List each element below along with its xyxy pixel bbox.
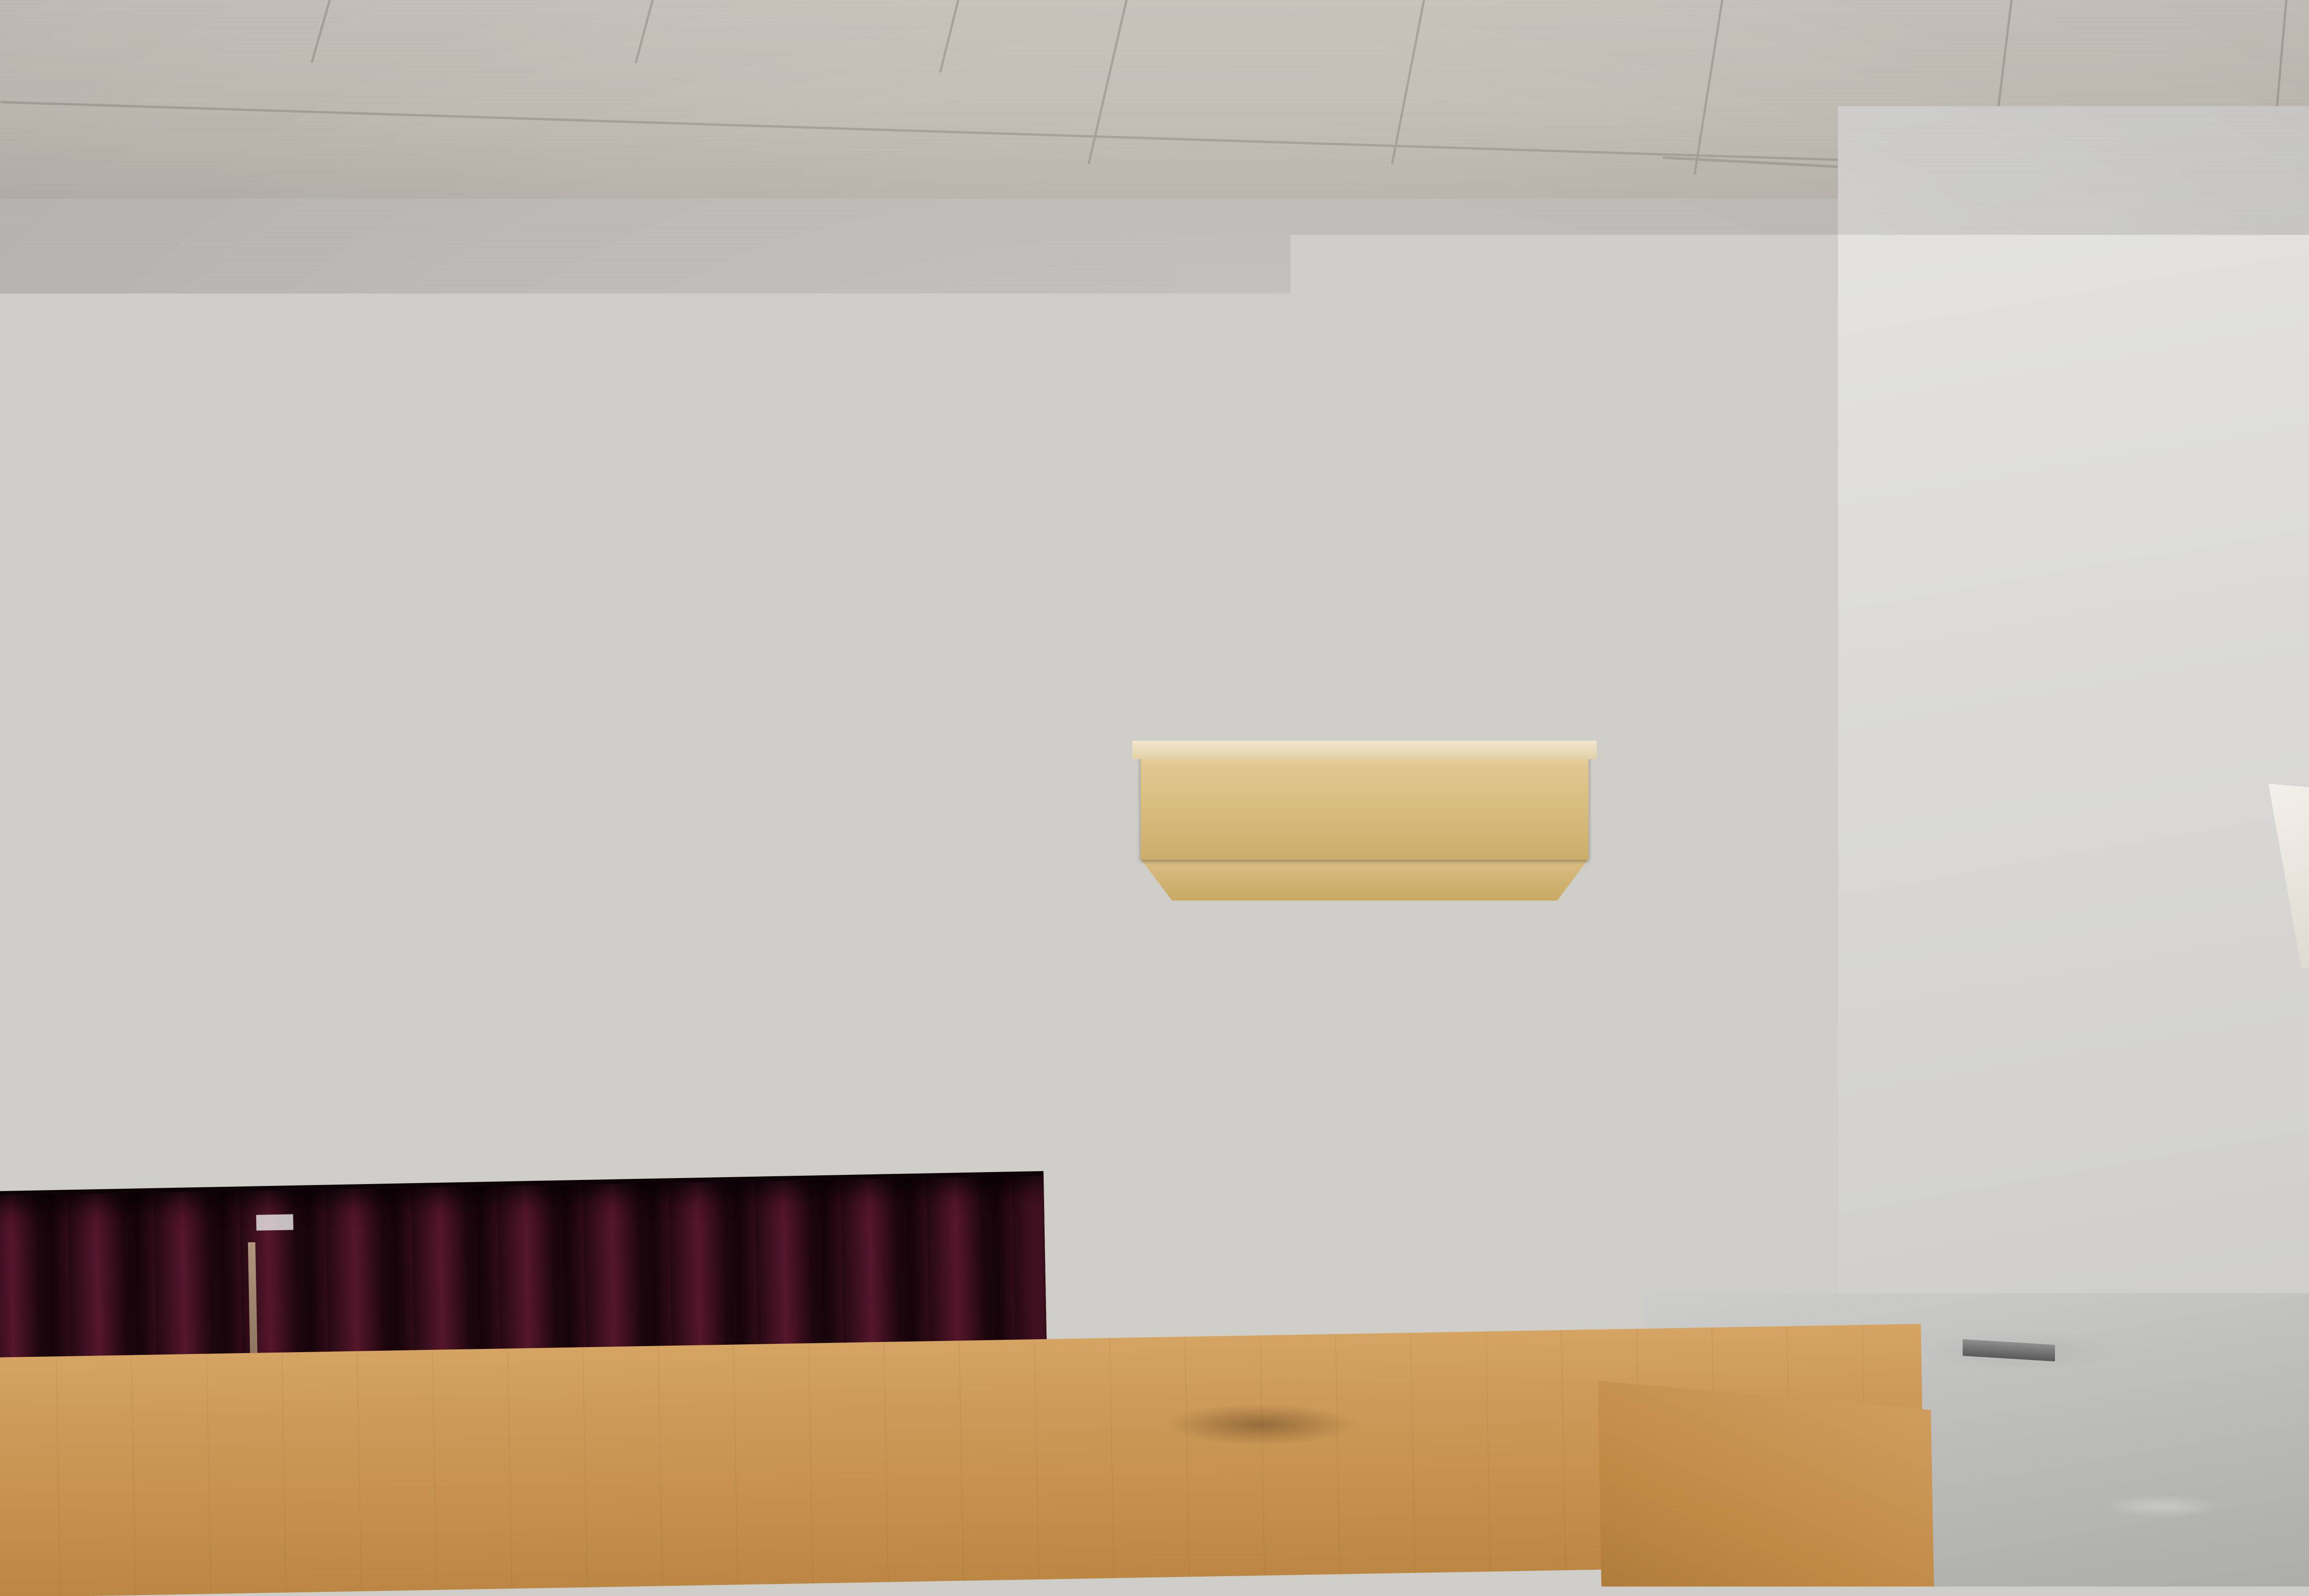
curtain-care-label <box>256 1214 294 1231</box>
slide-motto-title: # 座右铭 <box>458 653 680 691</box>
grandview-brand-label: GRANDVIEW <box>2246 50 2309 66</box>
speaker-eye-right <box>1335 530 1354 537</box>
podium-top-lip <box>1132 741 1597 759</box>
seal-arc-text: QINGDAO UNIVERSITY <box>1272 1029 1471 1227</box>
slide-name-given: 斌 <box>254 409 287 442</box>
slide-header: 科创部 WE ARE FAMILY <box>73 290 417 326</box>
slide-name-row: 崔 斌 是WOMAN不是MAN <box>217 405 469 442</box>
hash-icon: # <box>458 659 476 691</box>
slide-motto-block: # 座右铭 路上要前行也要看风景 <box>458 653 681 730</box>
podium-bevel <box>1141 859 1589 901</box>
slide-accent-block <box>742 765 854 823</box>
cable-connector-box <box>1518 1550 1626 1596</box>
microphone-head[interactable] <box>1305 610 1321 652</box>
qingdao-university-seal: QINGDAO UNIVERSITY 青岛大学 1909 <box>1272 1029 1471 1227</box>
seal-founding-year: 1909 <box>1411 1176 1450 1195</box>
slide-portrait-photo <box>0 384 170 818</box>
microphone-gooseneck-stem[interactable] <box>1310 656 1314 748</box>
svg-text:QINGDAO UNIVERSITY: QINGDAO UNIVERSITY <box>1283 1051 1460 1119</box>
photo-scene: GRANDVIEW 科创部 WE ARE FAMILY 崔 斌 是WOMAN不是… <box>0 0 2309 1596</box>
slide-content-card: 崔 斌 是WOMAN不是MAN # 座右铭 路上要前行也要看风景 <box>22 351 817 830</box>
slide-name-surname: 崔 <box>217 410 250 443</box>
slide-motto-title-text: 座右铭 <box>485 657 576 690</box>
presentation-slide: 科创部 WE ARE FAMILY 崔 斌 是WOMAN不是MAN # 座右铭 … <box>0 197 864 854</box>
speaker-nose <box>1311 553 1323 574</box>
slide-name-tagline: 是WOMAN不是MAN <box>302 417 468 439</box>
slide-header-chinese: 科创部 <box>73 296 163 326</box>
seal-chinese-name: 青岛大学 <box>1362 1136 1458 1167</box>
speaker-eye-left <box>1275 532 1294 539</box>
podium-top-surface <box>1141 744 1589 860</box>
slide-motto-subtitle: 路上要前行也要看风景 <box>459 695 681 731</box>
speaker-mouth <box>1297 583 1341 595</box>
podium-base-plinth <box>1210 1447 1529 1478</box>
slide-header-english: WE ARE FAMILY <box>174 291 417 324</box>
podium-white-panel <box>1214 908 1513 1014</box>
